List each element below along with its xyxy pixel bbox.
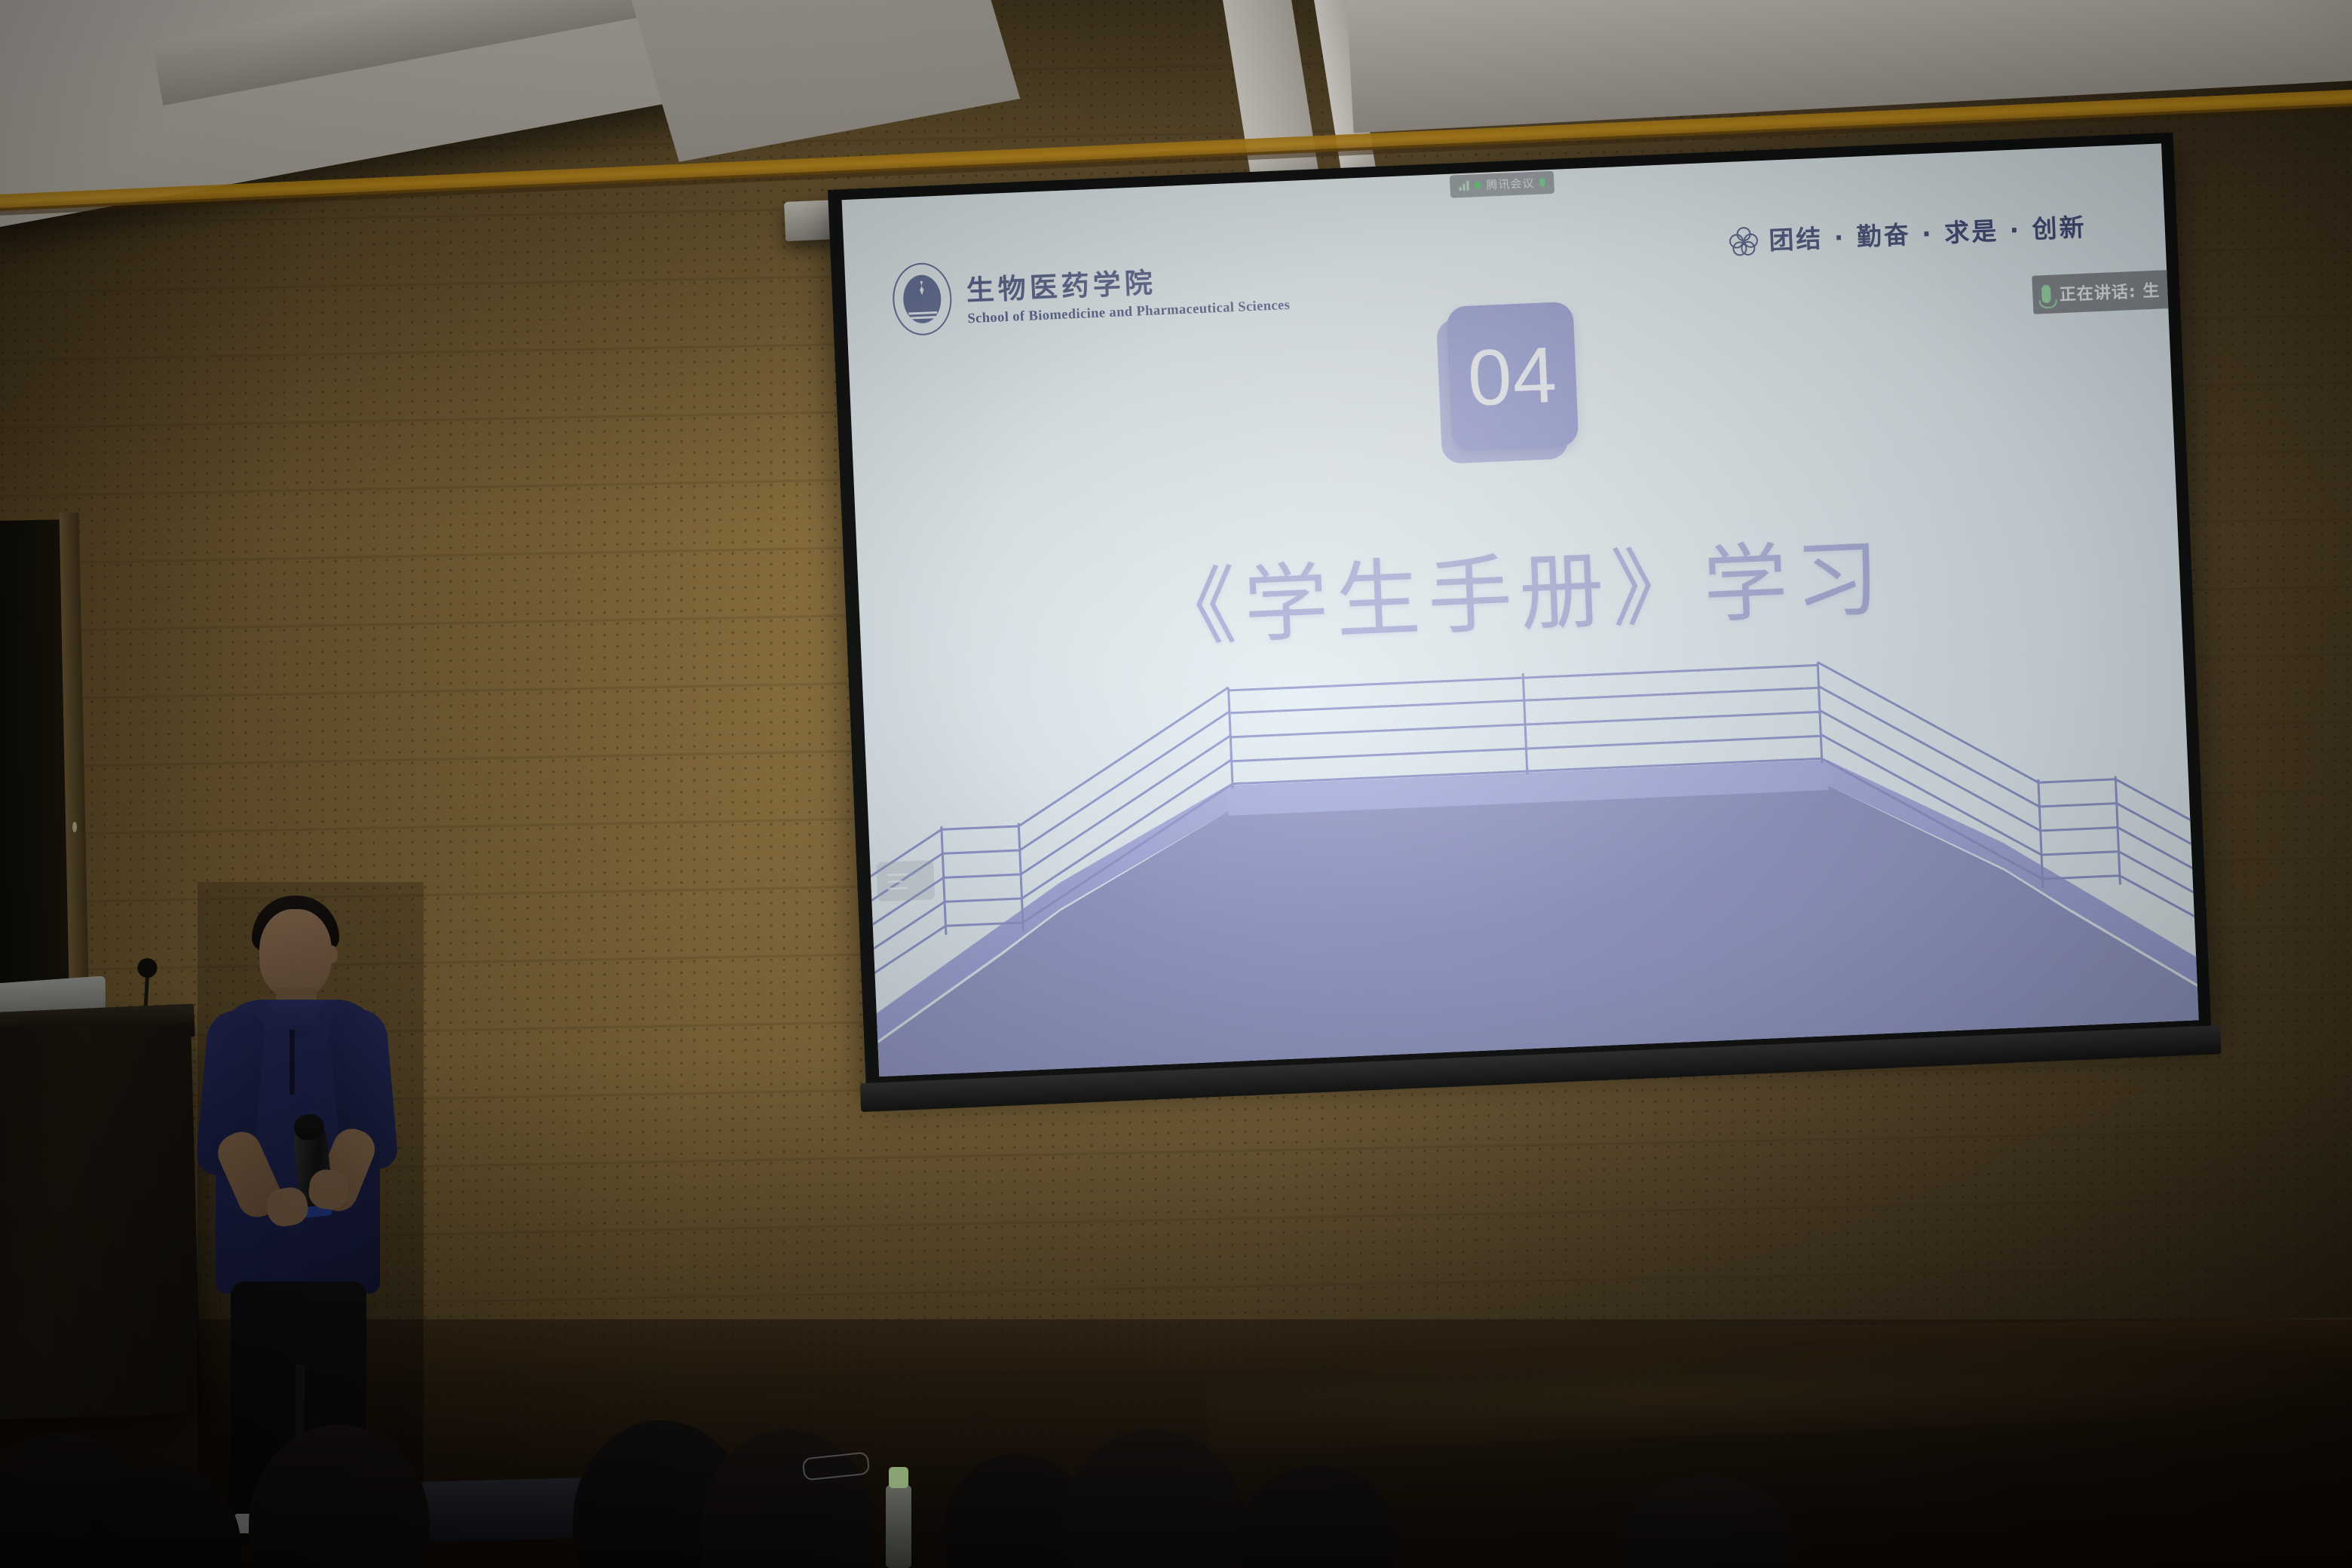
presenter-shirt-placket bbox=[289, 1030, 295, 1095]
audience-foreground bbox=[0, 1297, 2352, 1568]
school-seal-icon bbox=[891, 262, 953, 336]
badge-front-card: 04 bbox=[1446, 302, 1579, 452]
signal-bars-icon bbox=[1459, 181, 1469, 191]
mic-indicator-icon bbox=[1539, 178, 1545, 186]
screen-black-border: 腾讯会议 生物医药学院 School of Biomedicine and Ph… bbox=[828, 133, 2211, 1086]
audience-head bbox=[249, 1425, 430, 1568]
tencent-meeting-status-bar: 腾讯会议 bbox=[1450, 171, 1554, 198]
slogan-text: 团结 · 勤奋 · 求是 · 创新 bbox=[1768, 207, 2087, 257]
audience-head bbox=[1621, 1476, 1794, 1568]
speaking-status-badge: 正在讲话: 生 bbox=[2032, 270, 2173, 314]
presenter-ear bbox=[326, 945, 338, 963]
audience-head bbox=[701, 1429, 874, 1568]
school-name-block: 生物医药学院 School of Biomedicine and Pharmac… bbox=[966, 253, 1291, 326]
meeting-app-label: 腾讯会议 bbox=[1486, 175, 1535, 193]
presentation-slide[interactable]: 腾讯会议 生物医药学院 School of Biomedicine and Ph… bbox=[842, 143, 2199, 1076]
microphone-icon bbox=[2041, 285, 2050, 303]
school-branding: 生物医药学院 School of Biomedicine and Pharmac… bbox=[891, 247, 1291, 336]
audience-head bbox=[1063, 1429, 1244, 1568]
speaking-status-text: 正在讲话: 生 bbox=[2059, 277, 2161, 306]
section-number-badge: 04 bbox=[1435, 302, 1585, 470]
flower-icon bbox=[1729, 226, 1756, 253]
projection-screen[interactable]: 腾讯会议 生物医药学院 School of Biomedicine and Ph… bbox=[828, 133, 2211, 1086]
screenshot-root: 腾讯会议 生物医药学院 School of Biomedicine and Ph… bbox=[0, 0, 2352, 1568]
door-handle-highlight bbox=[72, 822, 77, 832]
presenter-head bbox=[259, 909, 332, 998]
status-dot-icon bbox=[1474, 182, 1481, 188]
water-bottle bbox=[886, 1485, 911, 1568]
school-slogan: 团结 · 勤奋 · 求是 · 创新 bbox=[1729, 207, 2087, 259]
bridge-overpass-illustration bbox=[862, 633, 2198, 1076]
section-number-text: 04 bbox=[1466, 335, 1559, 418]
hamburger-menu-icon[interactable] bbox=[876, 860, 935, 902]
audience-head bbox=[1236, 1465, 1398, 1568]
bottle-cap bbox=[889, 1467, 908, 1488]
